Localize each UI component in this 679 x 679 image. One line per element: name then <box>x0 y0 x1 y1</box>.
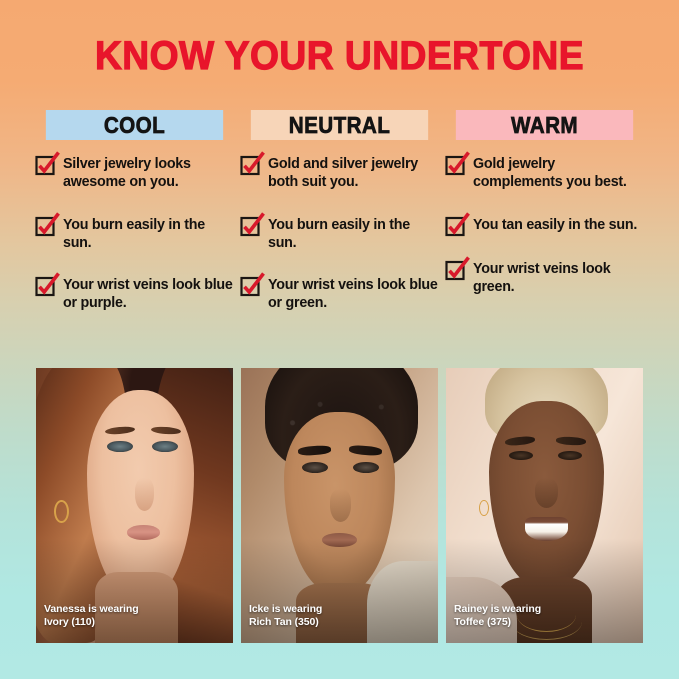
portrait-nose <box>135 478 155 511</box>
header-band-neutral: NEUTRAL <box>251 110 428 140</box>
checklist-item: You burn easily in the sun. <box>36 216 233 253</box>
portrait-lips <box>322 533 357 547</box>
checked-checkbox-icon <box>241 217 260 236</box>
header-band-neutral-label: NEUTRAL <box>289 112 390 139</box>
portrait-eye-left <box>302 462 328 473</box>
checklist-item: Your wrist veins look blue or purple. <box>36 276 233 313</box>
portrait-eye-left <box>509 451 533 460</box>
portrait-nose <box>330 489 352 522</box>
portrait-eye-right <box>353 462 379 473</box>
checklist-item-text: You tan easily in the sun. <box>473 216 637 234</box>
checked-checkbox-icon <box>36 156 55 175</box>
checklist-item-text: Your wrist veins look blue or purple. <box>63 276 233 313</box>
photo-caption-line2: Rich Tan (350) <box>249 616 322 629</box>
undertone-header-row: COOL NEUTRAL WARM <box>36 110 643 140</box>
photo-caption-cool: Vanessa is wearing Ivory (110) <box>44 603 139 629</box>
photo-caption-warm: Rainey is wearing Toffee (375) <box>454 603 541 629</box>
checked-checkbox-icon <box>446 156 465 175</box>
header-band-warm-label: WARM <box>511 112 578 139</box>
portrait-shirt <box>367 561 438 644</box>
checked-checkbox-icon <box>36 277 55 296</box>
checklist-item-text: Your wrist veins look blue or green. <box>268 276 438 313</box>
portrait-lips <box>127 525 160 540</box>
photo-caption-line1: Rainey is wearing <box>454 603 541 616</box>
undertone-poster: KNOW YOUR UNDERTONE COOL NEUTRAL WARM Si… <box>0 0 679 679</box>
header-band-warm: WARM <box>456 110 633 140</box>
checklist-column-cool: Silver jewelry looks awesome on you. You… <box>36 155 233 313</box>
photo-caption-line1: Vanessa is wearing <box>44 603 139 616</box>
photo-caption-line2: Ivory (110) <box>44 616 139 629</box>
model-photo-cool: Vanessa is wearing Ivory (110) <box>36 368 233 643</box>
checklist-item: You burn easily in the sun. <box>241 216 438 253</box>
portrait-eye-left <box>107 441 133 453</box>
checked-checkbox-icon <box>446 261 465 280</box>
hoop-earring-icon <box>54 500 69 523</box>
checklist-item-text: Gold and silver jewelry both suit you. <box>268 155 438 192</box>
checklist-item-text: You burn easily in the sun. <box>268 216 438 253</box>
portrait-eye-right <box>558 451 582 460</box>
checklist-column-neutral: Gold and silver jewelry both suit you. Y… <box>241 155 438 313</box>
model-photo-neutral: Icke is wearing Rich Tan (350) <box>241 368 438 643</box>
checklist-item-text: Silver jewelry looks awesome on you. <box>63 155 233 192</box>
checklist-item: You tan easily in the sun. <box>446 216 643 236</box>
checked-checkbox-icon <box>36 217 55 236</box>
checklist-item: Gold jewelry complements you best. <box>446 155 643 192</box>
checked-checkbox-icon <box>241 156 260 175</box>
checklist-item: Gold and silver jewelry both suit you. <box>241 155 438 192</box>
checked-checkbox-icon <box>446 217 465 236</box>
photo-caption-neutral: Icke is wearing Rich Tan (350) <box>249 603 322 629</box>
model-photo-warm: Rainey is wearing Toffee (375) <box>446 368 643 643</box>
checklist-item-text: Gold jewelry complements you best. <box>473 155 643 192</box>
undertone-checklist-row: Silver jewelry looks awesome on you. You… <box>36 155 643 313</box>
photo-caption-line2: Toffee (375) <box>454 616 541 629</box>
checklist-item-text: Your wrist veins look green. <box>473 260 643 297</box>
checklist-item-text: You burn easily in the sun. <box>63 216 233 253</box>
photo-caption-line1: Icke is wearing <box>249 603 322 616</box>
header-band-cool-label: COOL <box>104 112 165 139</box>
checklist-item: Your wrist veins look blue or green. <box>241 276 438 313</box>
checked-checkbox-icon <box>241 277 260 296</box>
checklist-item: Silver jewelry looks awesome on you. <box>36 155 233 192</box>
page-title: KNOW YOUR UNDERTONE <box>24 36 655 76</box>
header-band-cool: COOL <box>46 110 223 140</box>
model-photo-row: Vanessa is wearing Ivory (110) Icke is w… <box>36 368 643 643</box>
checklist-item: Your wrist veins look green. <box>446 260 643 297</box>
checklist-column-warm: Gold jewelry complements you best. You t… <box>446 155 643 313</box>
